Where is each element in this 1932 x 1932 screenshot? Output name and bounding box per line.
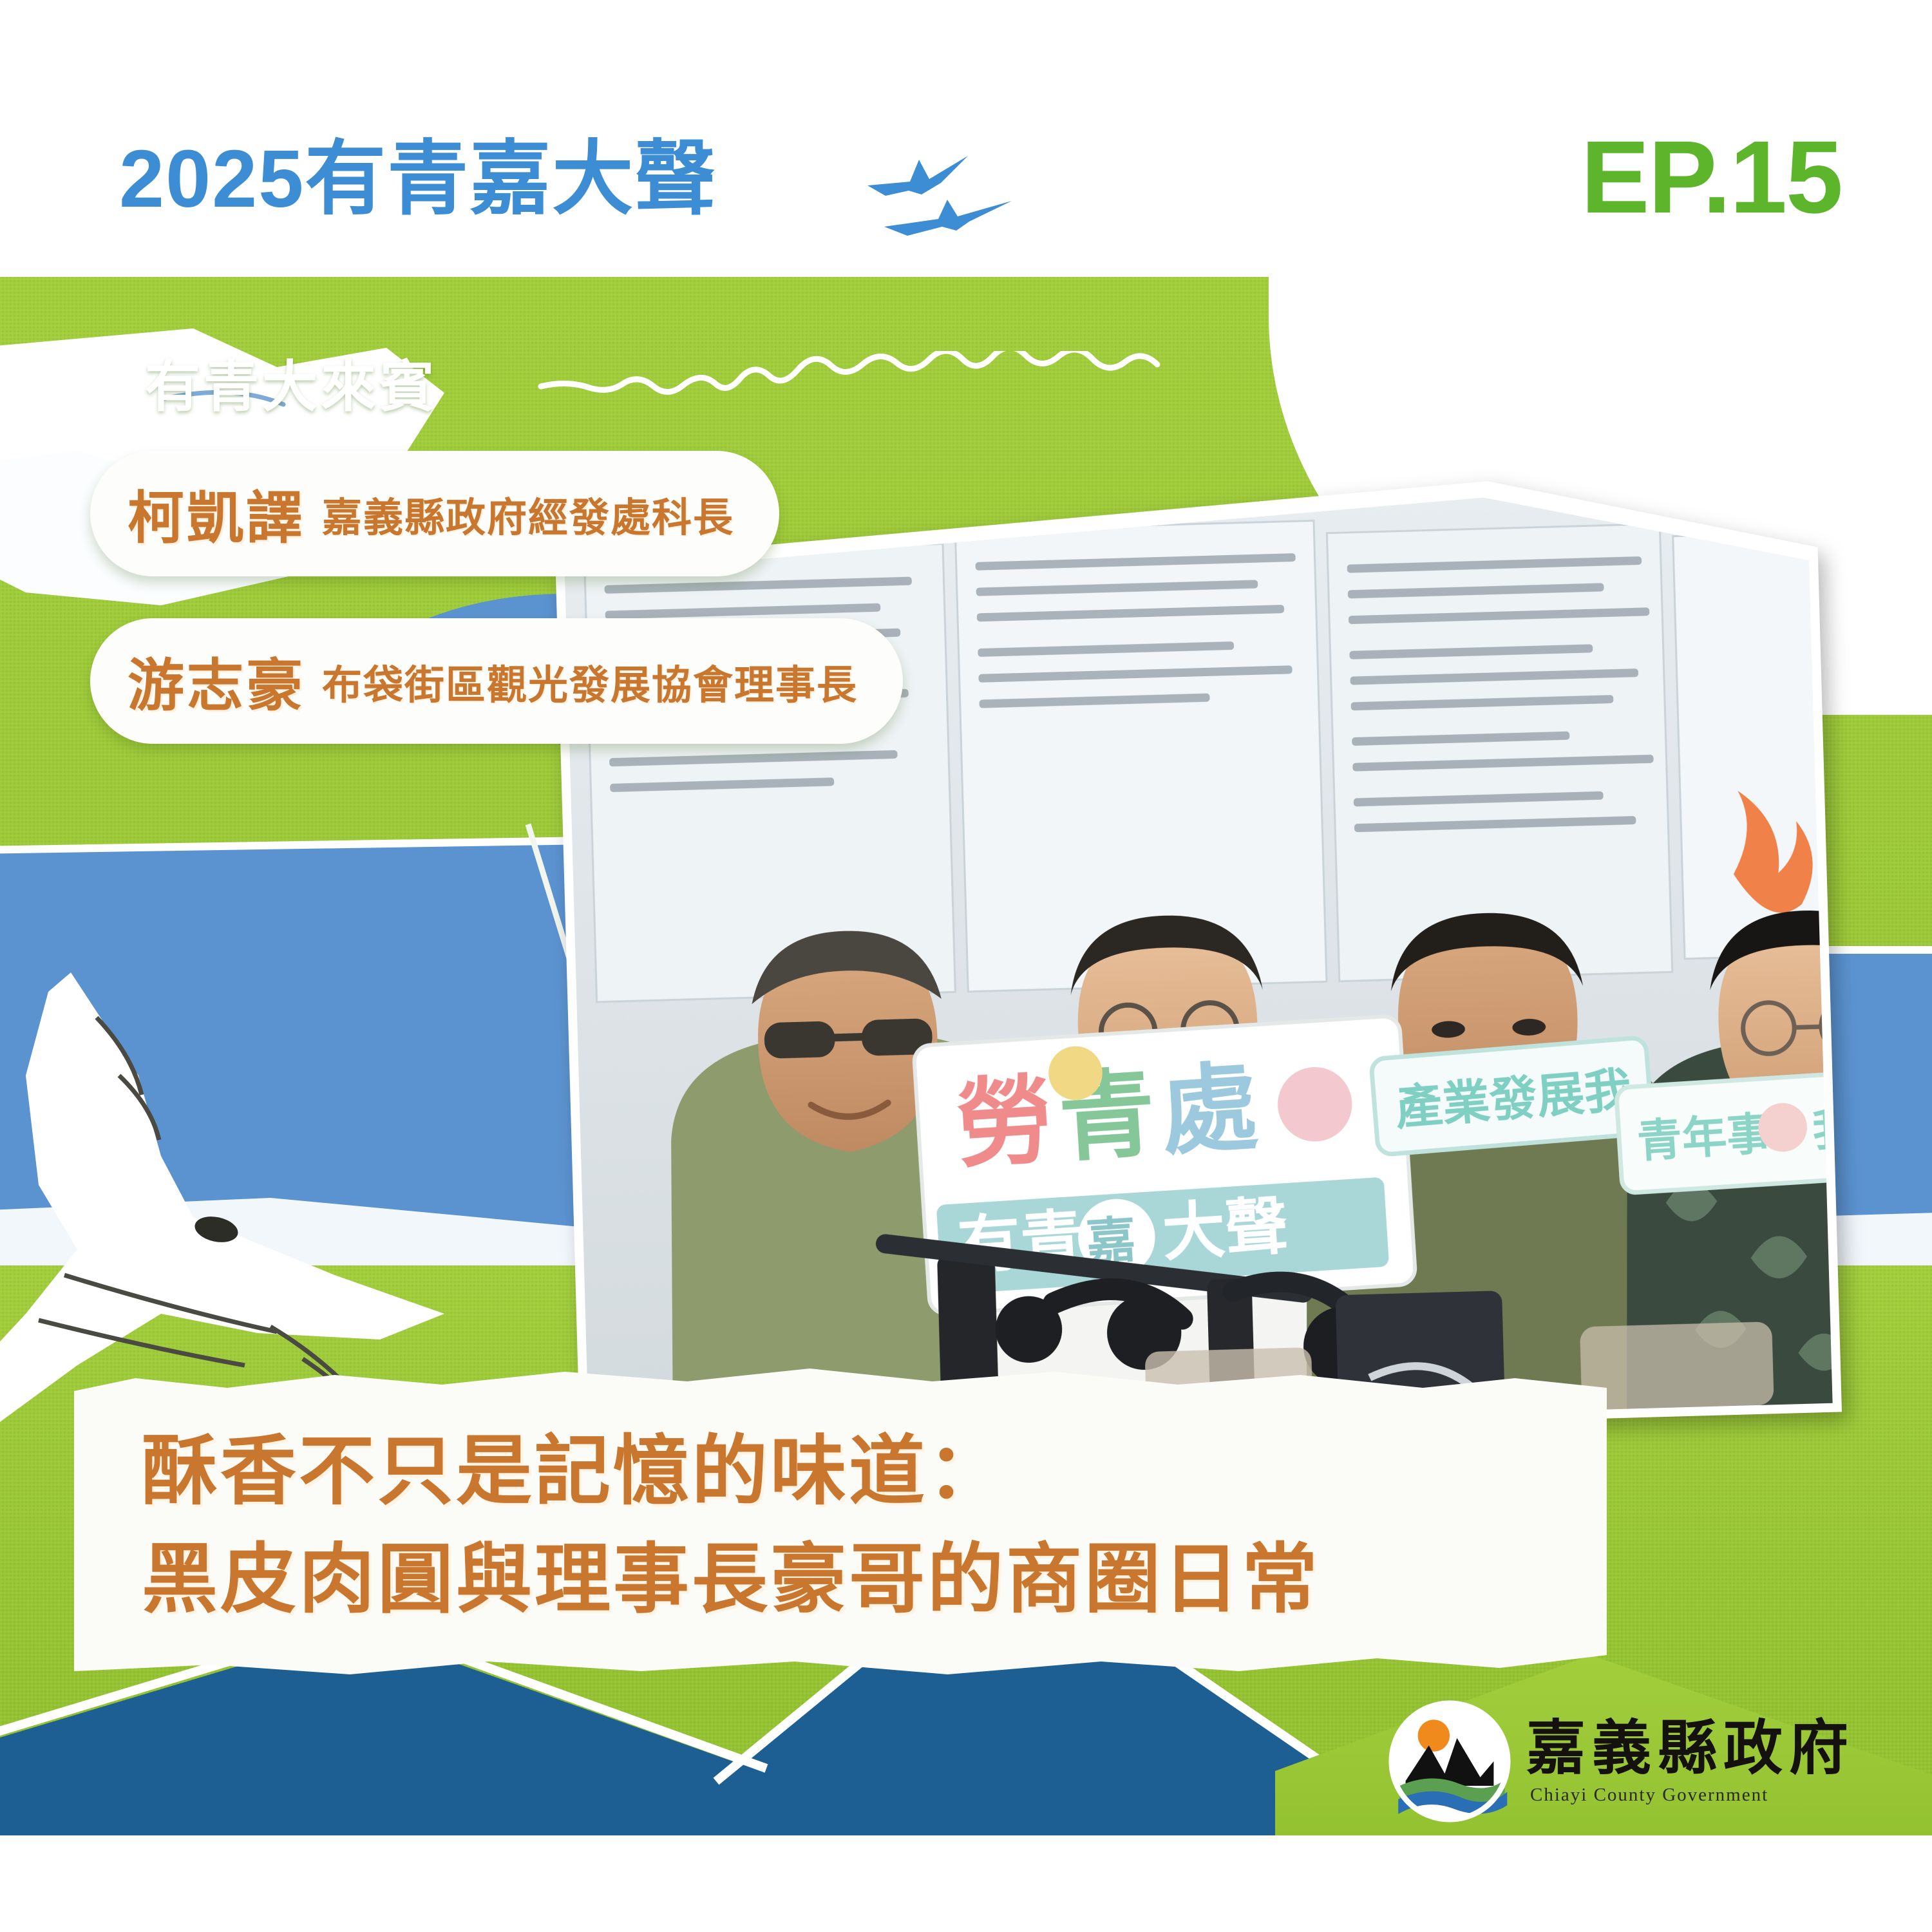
brand-title: 2025有青嘉大聲	[119, 138, 717, 220]
guest-name: 柯凱譯	[128, 473, 305, 554]
placard-small-right: 青年事 我的事	[1616, 1067, 1832, 1193]
chiayi-county-emblem-icon	[1388, 1700, 1511, 1823]
county-logo-text: 嘉義縣政府 Chiayi County Government	[1526, 1719, 1855, 1804]
guest-pill-1: 柯凱譯 嘉義縣政府經發處科長	[90, 451, 779, 576]
episode-title-text: 酥香不只是記憶的味道： 黑皮肉圓與理事長豪哥的商圈日常	[142, 1418, 1568, 1634]
bottom-white-band	[0, 1835, 1932, 1880]
cover-header: 2025有青嘉大聲 EP.15	[0, 0, 1932, 277]
episode-badge: EP.15	[1581, 126, 1842, 229]
svg-text:處: 處	[1158, 1053, 1260, 1166]
svg-text:大聲: 大聲	[1160, 1191, 1290, 1269]
county-name-en: Chiayi County Government	[1530, 1786, 1855, 1804]
episode-title-line-2: 黑皮肉圓與理事長豪哥的商圈日常	[142, 1526, 1568, 1634]
guest-name: 游志豪	[128, 640, 305, 722]
squiggly-underline-icon	[535, 351, 1269, 409]
guest-role: 布袋街區觀光發展協會理事長	[322, 652, 858, 710]
county-logo: 嘉義縣政府 Chiayi County Government	[1388, 1700, 1855, 1823]
flying-birds-icon	[860, 155, 1079, 251]
svg-text:勞: 勞	[954, 1066, 1056, 1179]
episode-title-card: 酥香不只是記憶的味道： 黑皮肉圓與理事長豪哥的商圈日常	[74, 1359, 1607, 1681]
placard-small-left: 產業發展我	[1371, 1037, 1653, 1155]
guest-pill-2: 游志豪 布袋街區觀光發展協會理事長	[90, 618, 903, 744]
county-name-zh: 嘉義縣政府	[1526, 1719, 1855, 1778]
svg-text:青年事: 青年事	[1636, 1108, 1773, 1167]
guest-role: 嘉義縣政府經發處科長	[322, 485, 734, 543]
podcast-cover: 勞 青 處 有青 嘉 大聲 產業發展我	[0, 0, 1932, 1932]
guest-section-label: 有青大來賓	[145, 341, 438, 422]
episode-title-line-1: 酥香不只是記憶的味道：	[142, 1418, 1568, 1526]
